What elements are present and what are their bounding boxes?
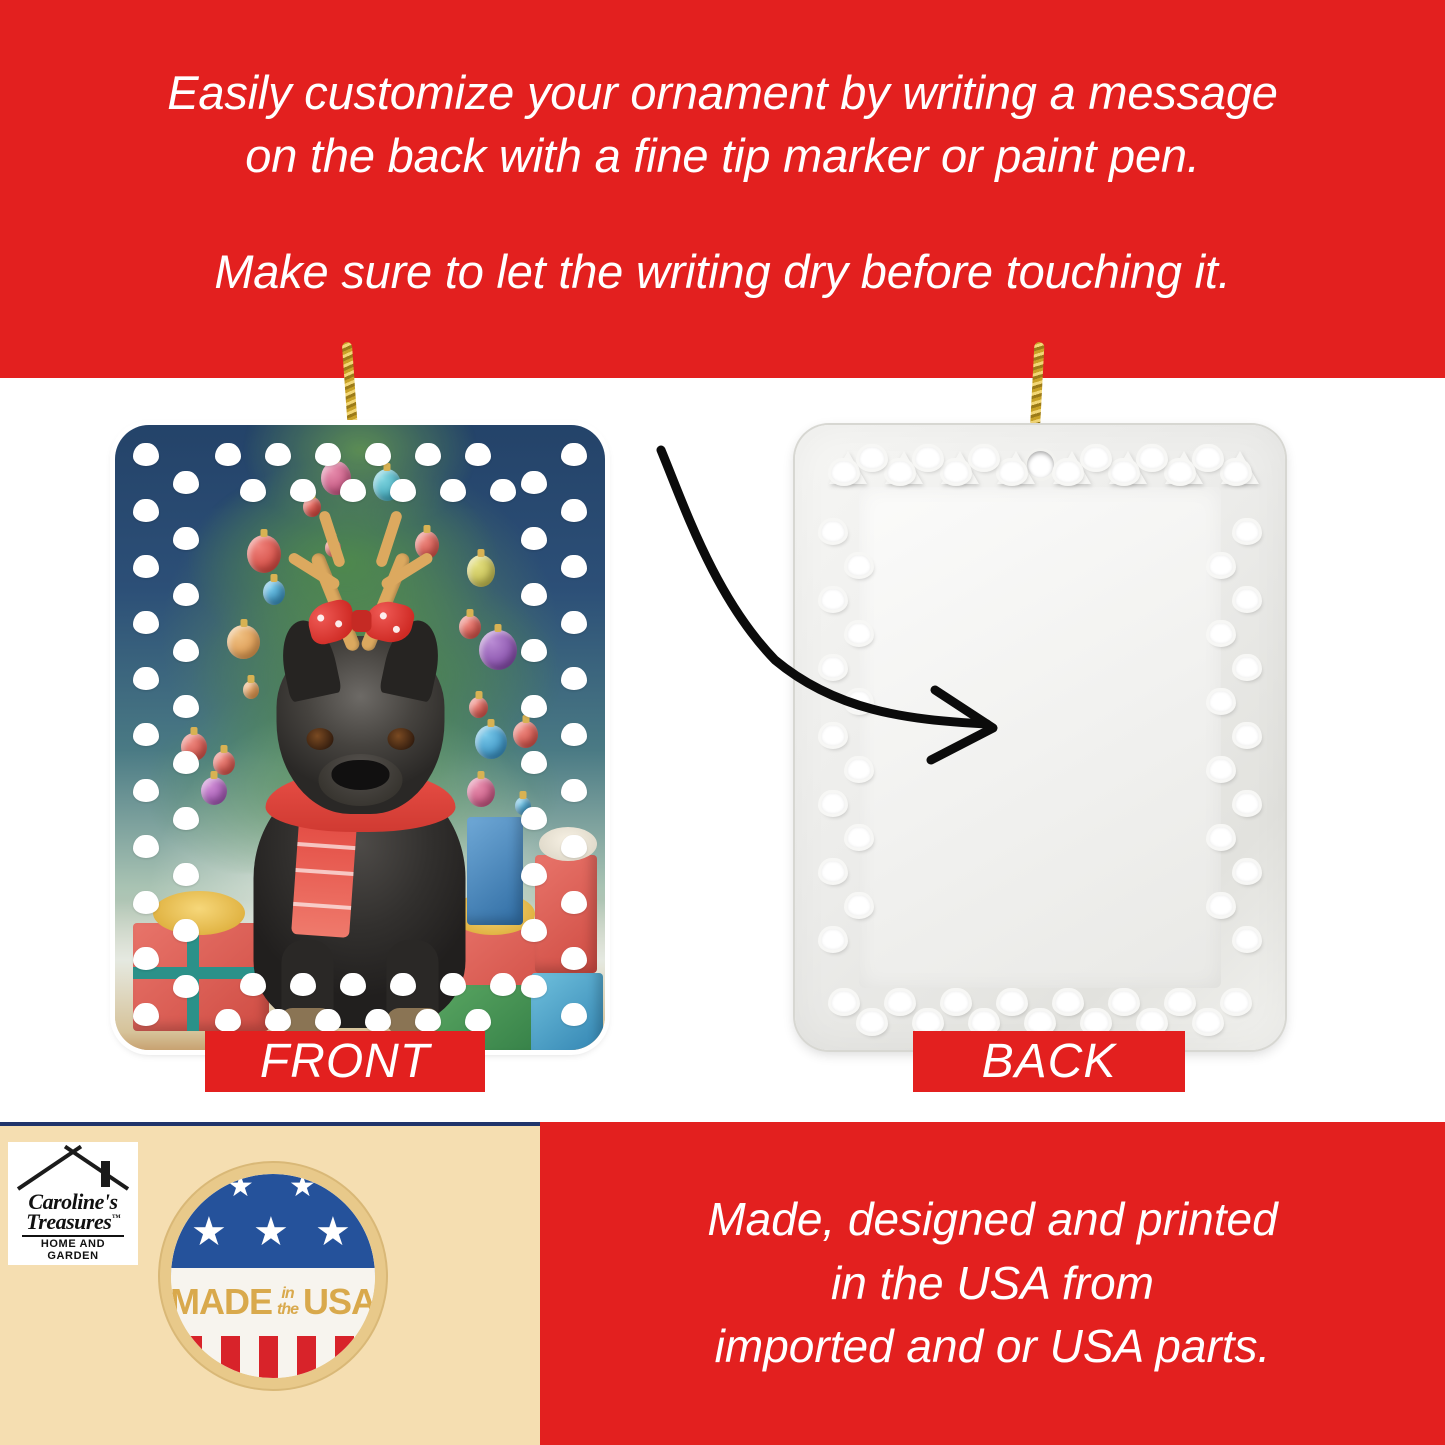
pierced-hole [1223, 991, 1249, 1013]
pierced-hole [1223, 461, 1249, 483]
logo-name-line-2: Treasures™ [14, 1209, 132, 1235]
bauble-icon [201, 777, 227, 805]
pierced-hole [821, 929, 845, 950]
pierced-hole [1139, 1011, 1165, 1033]
instruction-paragraph-2: Make sure to let the writing dry before … [58, 241, 1388, 304]
pierced-hole [1195, 1011, 1221, 1033]
seal-in-text: in [281, 1286, 293, 1302]
pierced-hole [1209, 623, 1233, 644]
bauble-icon [373, 469, 401, 501]
instruction-paragraph-1: Easily customize your ornament by writin… [58, 62, 1388, 187]
bauble-icon [247, 535, 281, 573]
back-label-tag: BACK [913, 1031, 1185, 1092]
logo-underline [22, 1235, 124, 1237]
seal-star-icon: ★ [289, 1174, 316, 1202]
product-infographic: Easily customize your ornament by writin… [0, 0, 1445, 1445]
pierced-hole [971, 1011, 997, 1033]
gift-bow-icon [539, 827, 597, 861]
cairn-terrier-dog-graphic [238, 628, 483, 1028]
pierced-hole [887, 991, 913, 1013]
instruction-line-2: on the back with a fine tip marker or pa… [58, 125, 1388, 188]
bauble-icon [515, 797, 531, 815]
pierced-hole [1167, 461, 1193, 483]
instruction-banner: Easily customize your ornament by writin… [0, 0, 1445, 378]
pierced-hole [1209, 827, 1233, 848]
made-in-usa-seal: ★ ★ ★ ★ ★ MADE in the USA [160, 1163, 386, 1389]
pierced-hole [1209, 895, 1233, 916]
pierced-hole [1235, 589, 1259, 610]
made-in-usa-text-panel: Made, designed and printed in the USA fr… [540, 1122, 1445, 1445]
seal-blue-field: ★ ★ ★ ★ ★ [171, 1174, 375, 1276]
gift-box-icon [535, 855, 597, 973]
bauble-icon [467, 555, 495, 587]
pierced-hole [1235, 657, 1259, 678]
instruction-line-3: Make sure to let the writing dry before … [58, 241, 1388, 304]
pierced-hole [1083, 1011, 1109, 1033]
footer-section: Caroline's Treasures™ HOME AND GARDEN ★ … [0, 1122, 1445, 1445]
pierced-hole [847, 895, 871, 916]
bauble-icon [321, 461, 351, 495]
dog-nose [331, 760, 389, 790]
logo-name-text: Treasures [26, 1209, 111, 1234]
seal-star-icon: ★ [191, 1212, 227, 1252]
pierced-hole [1235, 929, 1259, 950]
pierced-hole [1083, 447, 1109, 469]
gift-box-icon [531, 973, 603, 1050]
pierced-hole [1235, 725, 1259, 746]
pierced-hole [1055, 461, 1081, 483]
pierced-hole [859, 1011, 885, 1033]
bauble-icon [263, 580, 285, 605]
pierced-hole [1167, 991, 1193, 1013]
pierced-hole [1111, 461, 1137, 483]
made-in-usa-line-1: Made, designed and printed [583, 1188, 1403, 1251]
pierced-hole [1235, 521, 1259, 542]
made-in-usa-line-2: in the USA from [583, 1252, 1403, 1315]
pierced-hole [943, 991, 969, 1013]
dog-head [276, 636, 444, 814]
dog-eye-right [387, 728, 414, 750]
annotation-arrow-icon [655, 438, 1025, 768]
bauble-icon [479, 630, 517, 670]
pierced-hole [915, 1011, 941, 1033]
pierced-hole [847, 827, 871, 848]
gift-bow-icon [153, 891, 245, 935]
made-in-usa-copy: Made, designed and printed in the USA fr… [583, 1188, 1403, 1378]
logo-trademark: ™ [111, 1212, 120, 1222]
ornament-front-image [115, 425, 605, 1050]
pierced-hole [1235, 861, 1259, 882]
product-photo-area: FRONT BACK [0, 378, 1445, 1122]
dog-eye-left [306, 728, 333, 750]
made-in-usa-line-3: imported and or USA parts. [583, 1315, 1403, 1378]
bauble-icon [513, 721, 538, 748]
pierced-hole [831, 991, 857, 1013]
pierced-hole [1209, 759, 1233, 780]
pierced-hole [821, 861, 845, 882]
pierced-hole [999, 991, 1025, 1013]
instruction-line-1: Easily customize your ornament by writin… [58, 62, 1388, 125]
seal-star-icon: ★ [315, 1212, 351, 1252]
pierced-hole [1139, 447, 1165, 469]
pierced-hole [1209, 555, 1233, 576]
logo-roof-right-icon [64, 1144, 129, 1190]
pierced-hole [1055, 991, 1081, 1013]
seal-stripes [171, 1336, 375, 1378]
front-label-tag: FRONT [205, 1031, 485, 1092]
logo-tagline: HOME AND GARDEN [14, 1238, 132, 1262]
seal-text-band: MADE in the USA [171, 1268, 375, 1336]
pierced-hole [1027, 1011, 1053, 1033]
seal-made-text: MADE [171, 1281, 272, 1323]
seal-the-text: the [277, 1302, 298, 1318]
pierced-hole [1209, 691, 1233, 712]
pierced-hole [1195, 447, 1221, 469]
logo-chimney-icon [101, 1161, 110, 1187]
seal-star-icon: ★ [227, 1174, 254, 1202]
carolines-treasures-logo: Caroline's Treasures™ HOME AND GARDEN [8, 1142, 138, 1265]
seal-usa-text: USA [303, 1281, 375, 1323]
pierced-hole [821, 793, 845, 814]
bauble-icon [181, 733, 207, 761]
pierced-hole [1235, 793, 1259, 814]
seal-star-icon: ★ [253, 1212, 289, 1252]
pierced-hole [1111, 991, 1137, 1013]
